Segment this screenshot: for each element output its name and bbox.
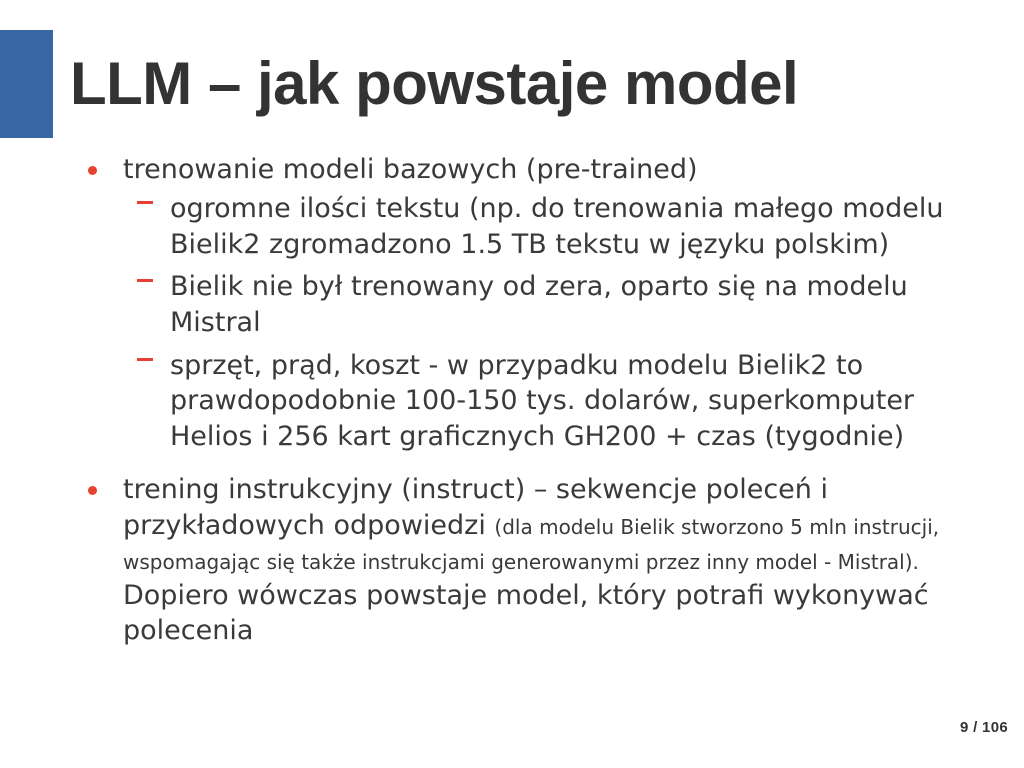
bullet-dot-icon: [88, 166, 97, 175]
bullet-item-level2: ogromne ilości tekstu (np. do trenowania…: [0, 191, 1024, 262]
bullet-dash-icon: [137, 358, 153, 361]
bullet-text: sprzęt, prąd, koszt - w przypadku modelu…: [170, 350, 914, 452]
bullet-text: ogromne ilości tekstu (np. do trenowania…: [170, 193, 943, 260]
bullet-dot-icon: [88, 486, 97, 495]
bullet-item-level1: trenowanie modeli bazowych (pre-trained): [0, 152, 1024, 187]
bullet-text: Bielik nie był trenowany od zera, oparto…: [170, 271, 908, 338]
accent-block-decoration: [0, 30, 53, 138]
bullet-text-run-normal: Dopiero wówczas powstaje model, który po…: [123, 580, 929, 646]
page-number-indicator: 9 / 106: [960, 719, 1008, 736]
page-title: LLM – jak powstaje model: [70, 52, 970, 117]
bullet-item-level1: trening instrukcyjny (instruct) – sekwen…: [0, 472, 1024, 647]
bullet-dash-icon: [137, 201, 153, 204]
bullet-item-level2: Bielik nie był trenowany od zera, oparto…: [0, 269, 1024, 340]
presentation-slide: LLM – jak powstaje model trenowanie mode…: [0, 0, 1024, 768]
slide-body-content: trenowanie modeli bazowych (pre-trained)…: [0, 152, 1024, 652]
bullet-item-level2: sprzęt, prąd, koszt - w przypadku modelu…: [0, 348, 1024, 455]
bullet-dash-icon: [137, 279, 153, 282]
bullet-text: trenowanie modeli bazowych (pre-trained): [123, 154, 698, 185]
